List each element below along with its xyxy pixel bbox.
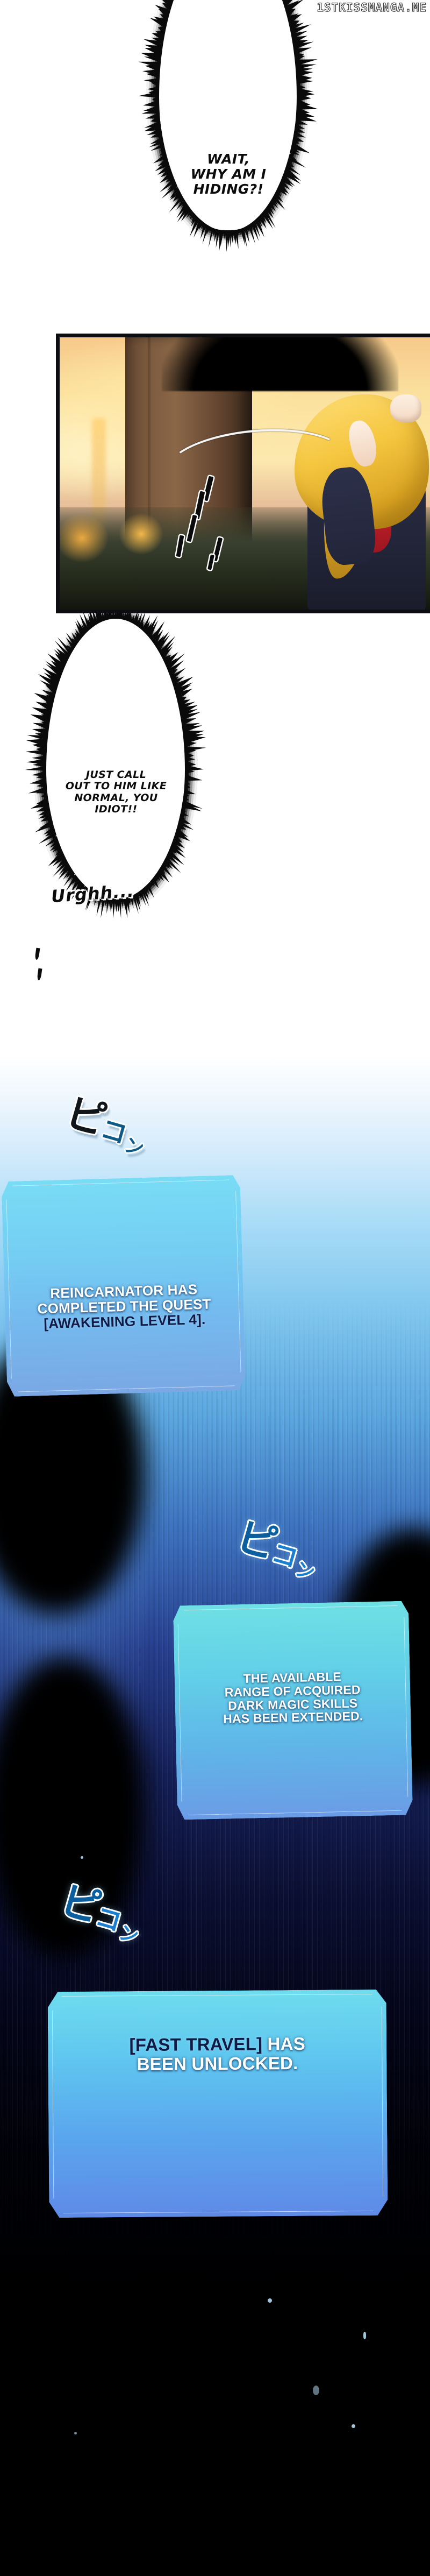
system-message-2-text: THE AVAILABLE RANGE OF ACQUIRED DARK MAG…: [193, 1669, 392, 1726]
art-panel-sunset-tree: [56, 334, 430, 613]
speech-balloon-2-text: JUST CALLOUT TO HIM LIKENORMAL, YOUIDIOT…: [56, 769, 176, 815]
balloon-line: WHY AM I: [177, 167, 279, 182]
system-line-2: BEEN UNLOCKED.: [75, 2053, 360, 2074]
balloon-body: [46, 619, 185, 898]
particle-6: [352, 2424, 355, 2428]
balloon-line: NORMAL, YOU: [56, 792, 176, 804]
system-message-3-text: [FAST TRAVEL] HAS BEEN UNLOCKED.: [75, 2034, 360, 2074]
particle-4: [363, 2332, 366, 2339]
panel-balloon-shadow: [162, 334, 398, 391]
system-message-1-text: REINCARNATOR HAS COMPLETED THE QUEST [AW…: [23, 1281, 225, 1332]
balloon-line: IDIOT!!: [56, 804, 176, 815]
balloon-line: HIDING?!: [177, 182, 279, 197]
system-message-box-2: THE AVAILABLE RANGE OF ACQUIRED DARK MAG…: [173, 1601, 413, 1820]
particle-7: [74, 2432, 77, 2435]
character-hand-right: [390, 394, 421, 422]
particle-1: [81, 1856, 83, 1859]
system-message-box-1: REINCARNATOR HAS COMPLETED THE QUEST [AW…: [2, 1175, 246, 1397]
system-line-tag: [FAST TRAVEL]: [129, 2034, 262, 2055]
system-message-box-3: [FAST TRAVEL] HAS BEEN UNLOCKED.: [48, 1990, 388, 2218]
particle-5: [313, 2386, 319, 2395]
speech-balloon-2: [46, 619, 185, 898]
balloon-line: JUST CALL: [56, 769, 176, 781]
system-box-plate: [48, 1990, 388, 2218]
site-watermark: 1STKISSMANGA.ME: [317, 1, 427, 14]
system-line-rest: HAS: [262, 2034, 305, 2054]
balloon-line: WAIT,: [177, 152, 279, 167]
balloon-line: OUT TO HIM LIKE: [56, 781, 176, 792]
comic-page: 1STKISSMANGA.ME WAIT,WHY AM IHIDING?!: [0, 0, 430, 2576]
particle-3: [268, 2298, 272, 2303]
speech-balloon-1-text: WAIT,WHY AM IHIDING?!: [177, 152, 279, 197]
system-line-1: [FAST TRAVEL] HAS: [75, 2034, 360, 2055]
